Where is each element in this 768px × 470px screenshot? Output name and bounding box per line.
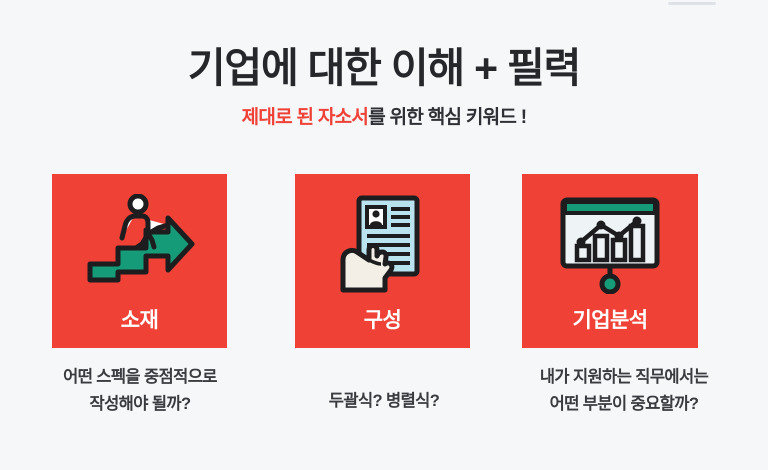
card-row: 소재 bbox=[52, 174, 698, 348]
presentation-bar-chart-icon bbox=[522, 192, 698, 296]
card-gieopbunseok[interactable]: 기업분석 bbox=[522, 174, 698, 348]
card-soje[interactable]: 소재 bbox=[52, 174, 227, 348]
card-label: 구성 bbox=[295, 308, 470, 334]
hand-holding-resume-icon bbox=[295, 192, 470, 296]
caption-line: 내가 지원하는 직무에서는 bbox=[490, 364, 758, 391]
card-label: 기업분석 bbox=[522, 308, 698, 334]
caption-soje: 어떤 스펙을 중점적으로 작성해야 될까? bbox=[12, 364, 268, 418]
page-title: 기업에 대한 이해 + 필력 bbox=[0, 44, 768, 92]
subtitle-rest: 를 위한 핵심 키워드 ! bbox=[368, 107, 526, 128]
caption-row: 어떤 스펙을 중점적으로 작성해야 될까? 두괄식? 병렬식? 내가 지원하는 … bbox=[0, 364, 768, 434]
top-divider-fragment bbox=[668, 2, 716, 5]
page-subtitle: 제대로 된 자소서를 위한 핵심 키워드 ! bbox=[0, 106, 768, 130]
caption-line: 어떤 부분이 중요할까? bbox=[490, 391, 758, 418]
heading-block: 기업에 대한 이해 + 필력 제대로 된 자소서를 위한 핵심 키워드 ! bbox=[0, 44, 768, 130]
caption-line: 두괄식? 병렬식? bbox=[268, 388, 500, 415]
infographic-slide: 기업에 대한 이해 + 필력 제대로 된 자소서를 위한 핵심 키워드 ! bbox=[0, 0, 768, 470]
caption-line: 어떤 스펙을 중점적으로 bbox=[12, 364, 268, 391]
caption-guseong: 두괄식? 병렬식? bbox=[268, 388, 500, 415]
caption-line: 작성해야 될까? bbox=[12, 391, 268, 418]
caption-gieopbunseok: 내가 지원하는 직무에서는 어떤 부분이 중요할까? bbox=[490, 364, 758, 418]
card-label: 소재 bbox=[52, 308, 227, 334]
person-climbing-stairs-arrow-icon bbox=[52, 192, 227, 296]
subtitle-highlight: 제대로 된 자소서 bbox=[242, 107, 369, 128]
card-guseong[interactable]: 구성 bbox=[295, 174, 470, 348]
